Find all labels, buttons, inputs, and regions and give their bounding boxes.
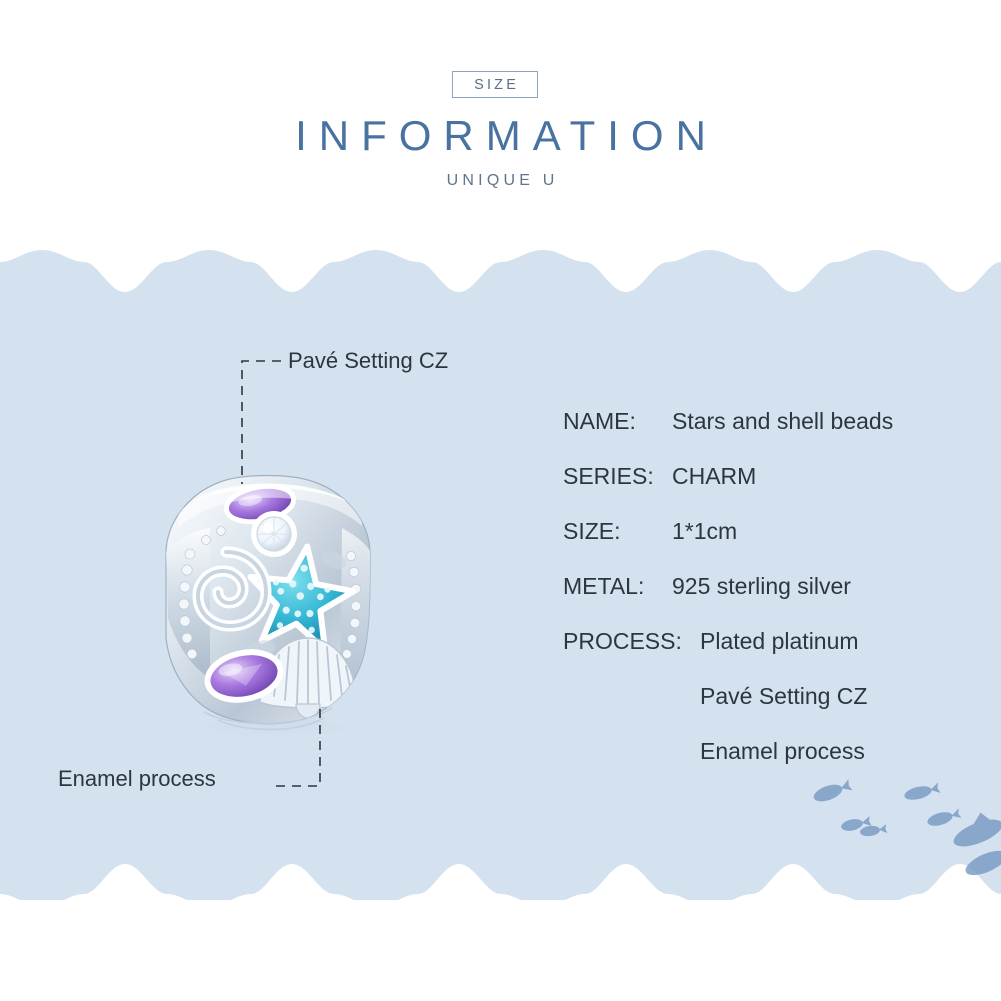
product-information-page: SIZE INFORMATION UNIQUE U (0, 0, 1001, 1001)
header-section: SIZE INFORMATION UNIQUE U (0, 0, 1001, 240)
callout-label-enamel-process: Enamel process (58, 766, 216, 792)
spec-value-process-extra-2: Enamel process (700, 738, 865, 765)
spec-row-series: SERIES: CHARM (563, 463, 993, 518)
spec-row-size: SIZE: 1*1cm (563, 518, 993, 573)
spec-row-metal: METAL: 925 sterling silver (563, 573, 993, 628)
spec-value-series: CHARM (672, 463, 756, 490)
spec-label-process: PROCESS: (563, 628, 682, 655)
spec-value-name: Stars and shell beads (672, 408, 893, 435)
spec-row-process-extra-2: Enamel process (563, 738, 993, 793)
product-spec-list: NAME: Stars and shell beads SERIES: CHAR… (563, 408, 993, 793)
product-image (148, 468, 404, 758)
spec-label-name: NAME: (563, 408, 636, 435)
spec-label-metal: METAL: (563, 573, 644, 600)
callout-label-pave-setting: Pavé Setting CZ (288, 348, 448, 374)
spec-value-size: 1*1cm (672, 518, 737, 545)
spec-row-name: NAME: Stars and shell beads (563, 408, 993, 463)
size-badge: SIZE (452, 71, 538, 98)
spec-value-process-extra-1: Pavé Setting CZ (700, 683, 867, 710)
spec-label-size: SIZE: (563, 518, 621, 545)
spec-row-process-extra-1: Pavé Setting CZ (563, 683, 993, 738)
spec-row-process: PROCESS: Plated platinum (563, 628, 993, 683)
page-title: INFORMATION (0, 112, 1001, 160)
spec-label-series: SERIES: (563, 463, 654, 490)
spec-value-metal: 925 sterling silver (672, 573, 851, 600)
page-subtitle: UNIQUE U (0, 172, 1001, 190)
size-badge-label: SIZE (471, 77, 519, 93)
spec-value-process: Plated platinum (700, 628, 859, 655)
